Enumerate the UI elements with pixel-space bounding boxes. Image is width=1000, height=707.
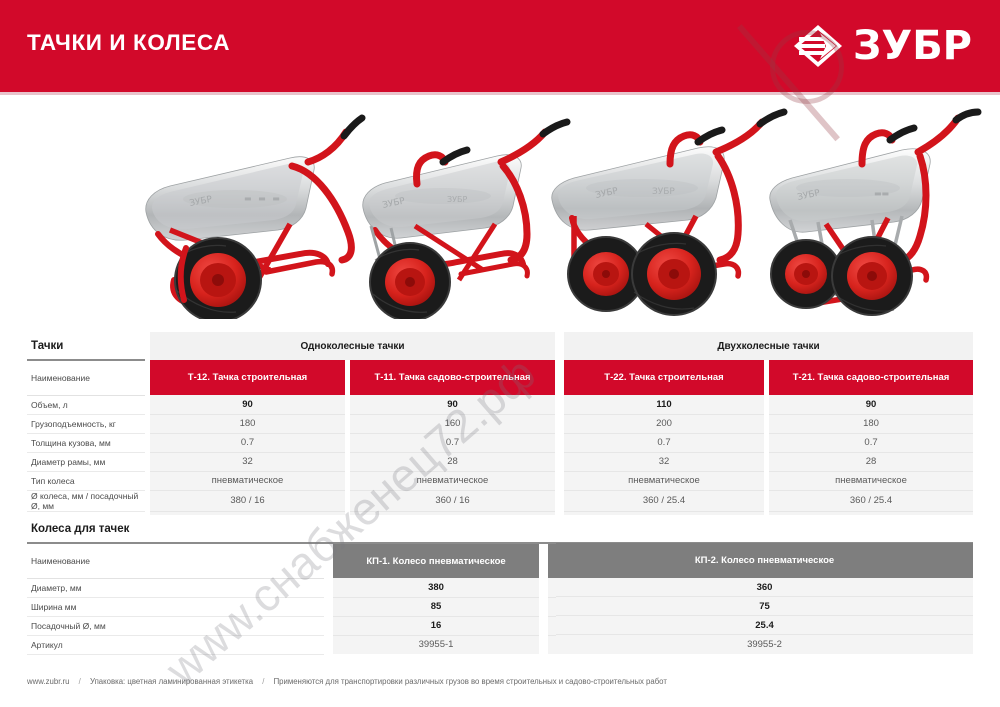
wheelbarrow-two-wheel-icon: ЗУБР ▬▬ bbox=[762, 104, 992, 319]
column-header-t21[interactable]: Т-21. Тачка садово-строительная bbox=[769, 360, 973, 395]
brand-wordmark: ЗУБР bbox=[853, 26, 972, 66]
cell-value: пневматическое bbox=[564, 471, 764, 490]
page-title: ТАЧКИ И КОЛЕСА bbox=[27, 30, 230, 56]
cell-value: 360 bbox=[556, 578, 973, 597]
barrows-caption: Тачки bbox=[27, 332, 145, 360]
cell-value: 28 bbox=[350, 452, 555, 471]
row-label: Артикул bbox=[27, 635, 324, 654]
cell-value: 110 bbox=[564, 395, 764, 414]
table-row: Объем, л 90 90 110 90 bbox=[27, 395, 973, 414]
table-row: Грузоподъемность, кг 180 160 200 180 bbox=[27, 414, 973, 433]
cell-value: 360 / 25.4 bbox=[564, 490, 764, 511]
column-header-t22[interactable]: Т-22. Тачка строительная bbox=[564, 360, 764, 395]
cell-value: 16 bbox=[333, 616, 539, 635]
cell-value: 32 bbox=[564, 452, 764, 471]
wheels-caption: Колеса для тачек bbox=[27, 515, 973, 543]
spacer bbox=[555, 360, 564, 395]
cell-value: 28 bbox=[769, 452, 973, 471]
row-label: Ширина мм bbox=[27, 597, 324, 616]
cell-value: 0.7 bbox=[350, 433, 555, 452]
product-image-t21: ЗУБР ▬▬ bbox=[762, 104, 992, 319]
cell-value: 90 bbox=[769, 395, 973, 414]
cell-value: 90 bbox=[150, 395, 345, 414]
group-header-double: Двухколесные тачки bbox=[564, 332, 973, 360]
wheels-column-kp2: КП-2. Колесо пневматическое 360 75 25.4 … bbox=[556, 543, 973, 654]
product-image-strip: ЗУБР ▬ ▬ ▬ bbox=[0, 104, 1000, 319]
cell-value: 0.7 bbox=[769, 433, 973, 452]
table-caption-row: Тачки Одноколесные тачки Двухколесные та… bbox=[27, 332, 973, 360]
wheels-table-section: Колеса для тачек Наименование КП-1. Коле… bbox=[27, 515, 973, 655]
cell-value: пневматическое bbox=[150, 471, 345, 490]
row-label: Объем, л bbox=[27, 395, 145, 414]
table-row: Ø колеса, мм / посадочный Ø, мм 380 / 16… bbox=[27, 490, 973, 511]
footer-usage: Применяются для транспортировки различны… bbox=[274, 677, 667, 686]
barrows-table-section: Тачки Одноколесные тачки Двухколесные та… bbox=[27, 332, 973, 531]
cell-value: 160 bbox=[350, 414, 555, 433]
barrows-table: Тачки Одноколесные тачки Двухколесные та… bbox=[27, 332, 973, 531]
page-header: ТАЧКИ И КОЛЕСА ЗУБР bbox=[0, 0, 1000, 92]
header-row-label: Наименование bbox=[27, 360, 145, 395]
column-header-kp1[interactable]: КП-1. Колесо пневматическое bbox=[333, 543, 539, 578]
zubr-arrow-diamond-icon bbox=[792, 23, 844, 69]
cell-value: пневматическое bbox=[769, 471, 973, 490]
footer-packaging: Упаковка: цветная ламинированная этикетк… bbox=[90, 677, 253, 686]
cell-value: 360 / 16 bbox=[350, 490, 555, 511]
svg-text:▬ ▬ ▬: ▬ ▬ ▬ bbox=[244, 194, 282, 203]
cell-value: 380 / 16 bbox=[150, 490, 345, 511]
spacer bbox=[324, 543, 333, 578]
cell-value: 75 bbox=[556, 597, 973, 616]
table-row: Диаметр рамы, мм 32 28 32 28 bbox=[27, 452, 973, 471]
column-header-kp2[interactable]: КП-2. Колесо пневматическое bbox=[556, 543, 973, 578]
column-header-t12[interactable]: Т-12. Тачка строительная bbox=[150, 360, 345, 395]
row-label: Посадочный Ø, мм bbox=[27, 616, 324, 635]
header-row-label: Наименование bbox=[27, 543, 324, 578]
cell-value: пневматическое bbox=[350, 471, 555, 490]
svg-text:▬▬: ▬▬ bbox=[874, 189, 889, 198]
table-header-row: Наименование Т-12. Тачка строительная Т-… bbox=[27, 360, 973, 395]
row-label: Диаметр рамы, мм bbox=[27, 452, 145, 471]
row-label: Тип колеса bbox=[27, 471, 145, 490]
cell-value: 360 / 25.4 bbox=[769, 490, 973, 511]
row-label: Толщина кузова, мм bbox=[27, 433, 145, 452]
table-row: Тип колеса пневматическое пневматическое… bbox=[27, 471, 973, 490]
cell-value: 180 bbox=[150, 414, 345, 433]
wheelbarrow-two-wheel-icon: ЗУБР ЗУБР bbox=[548, 104, 798, 319]
cell-value: 32 bbox=[150, 452, 345, 471]
catalog-page: ТАЧКИ И КОЛЕСА ЗУБР bbox=[0, 0, 1000, 707]
row-label: Диаметр, мм bbox=[27, 578, 324, 597]
cell-value: 39955-2 bbox=[556, 635, 973, 654]
spacer bbox=[539, 543, 548, 578]
cell-value: 90 bbox=[350, 395, 555, 414]
cell-value: 200 bbox=[564, 414, 764, 433]
cell-value: 25.4 bbox=[556, 616, 973, 635]
cell-value: 0.7 bbox=[150, 433, 345, 452]
cell-value: 39955-1 bbox=[333, 635, 539, 654]
row-label: Ø колеса, мм / посадочный Ø, мм bbox=[27, 490, 145, 511]
page-footer: www.zubr.ru / Упаковка: цветная ламиниро… bbox=[27, 677, 973, 686]
svg-text:ЗУБР: ЗУБР bbox=[447, 195, 467, 204]
header-divider bbox=[0, 92, 1000, 95]
cell-value: 380 bbox=[333, 578, 539, 597]
product-image-t22: ЗУБР ЗУБР bbox=[548, 104, 798, 319]
cell-value: 180 bbox=[769, 414, 973, 433]
footer-site[interactable]: www.zubr.ru bbox=[27, 677, 69, 686]
cell-value: 85 bbox=[333, 597, 539, 616]
table-row: Толщина кузова, мм 0.7 0.7 0.7 0.7 bbox=[27, 433, 973, 452]
product-image-t12: ЗУБР ▬ ▬ ▬ bbox=[140, 104, 380, 319]
table-caption-row: Колеса для тачек bbox=[27, 515, 973, 543]
svg-text:ЗУБР: ЗУБР bbox=[652, 187, 675, 197]
footer-separator: / bbox=[72, 677, 88, 686]
row-label: Грузоподъемность, кг bbox=[27, 414, 145, 433]
wheelbarrow-single-wheel-icon: ЗУБР ▬ ▬ ▬ bbox=[140, 104, 380, 319]
spacer bbox=[555, 332, 564, 360]
footer-separator: / bbox=[255, 677, 271, 686]
group-header-single: Одноколесные тачки bbox=[150, 332, 555, 360]
cell-value: 0.7 bbox=[564, 433, 764, 452]
brand-logo: ЗУБР bbox=[792, 20, 972, 72]
column-header-t11[interactable]: Т-11. Тачка садово-строительная bbox=[350, 360, 555, 395]
